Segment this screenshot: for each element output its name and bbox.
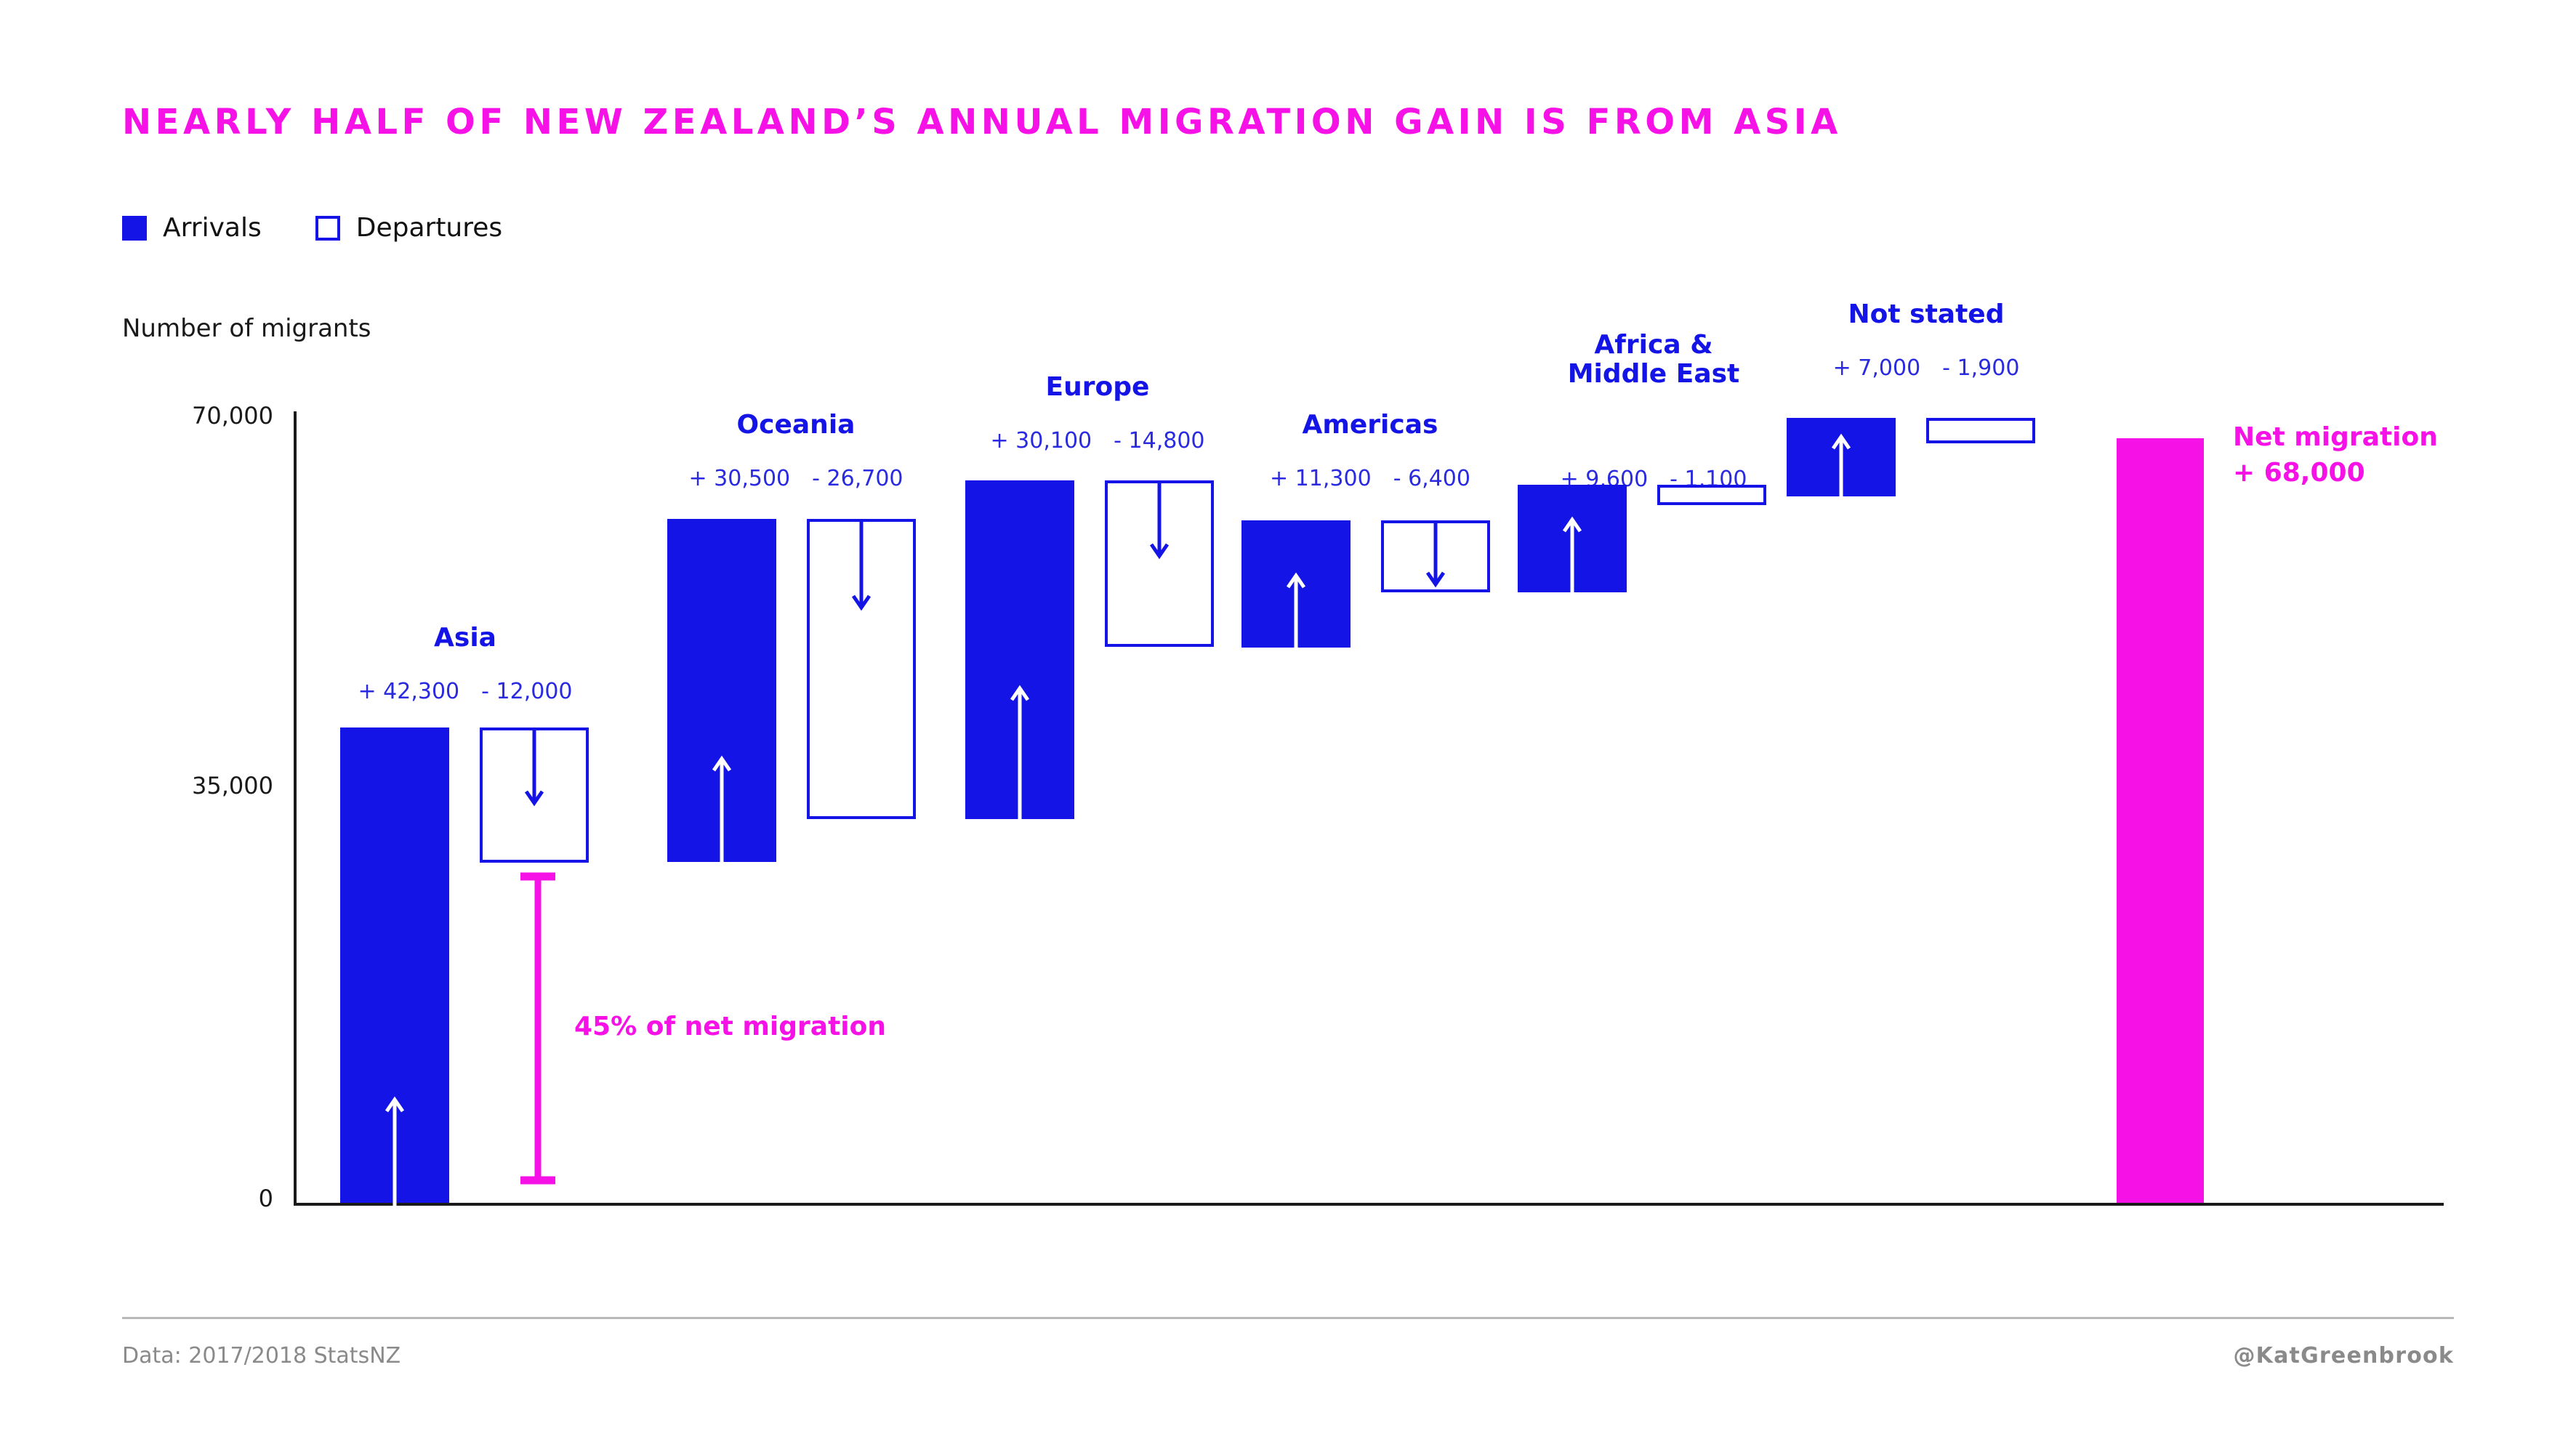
net-migration-title: Net migration <box>2233 422 2438 452</box>
group-label-not-stated: Not stated <box>1781 300 2072 329</box>
chart-title: NEARLY HALF OF NEW ZEALAND’S ANNUAL MIGR… <box>122 102 1842 142</box>
group-africa-middle-east: Africa & Middle East + 9,600 - 1,100 <box>1512 0 1795 1455</box>
y-tick-label-70000: 70,000 <box>109 402 273 430</box>
departures-value-africa-middle-east: - 1,100 <box>1670 467 1747 492</box>
legend-item-arrivals[interactable]: Arrivals <box>122 213 262 243</box>
arrivals-value-not-stated: + 7,000 <box>1833 355 1921 381</box>
departures-down-arrow-icon <box>1149 482 1170 563</box>
departures-box-europe[interactable] <box>1105 480 1214 647</box>
arrivals-bar-not-stated[interactable] <box>1787 418 1896 496</box>
group-label-americas: Americas <box>1236 411 1505 440</box>
arrivals-bar-oceania[interactable] <box>667 519 776 862</box>
x-axis-baseline <box>294 1203 2444 1206</box>
arrivals-up-arrow-icon <box>712 753 732 866</box>
group-values-not-stated: + 7,000 - 1,900 <box>1781 355 2072 381</box>
group-oceania: Oceania + 30,500 - 26,700 <box>661 0 930 1455</box>
arrivals-value-oceania: + 30,500 <box>689 466 791 491</box>
y-axis-line <box>294 411 297 1206</box>
percent-bracket-icon <box>509 872 589 1185</box>
group-label-asia: Asia <box>334 624 596 653</box>
legend-item-departures[interactable]: Departures <box>315 213 502 243</box>
footer-source-text: Data: 2017/2018 StatsNZ <box>122 1343 401 1369</box>
arrivals-up-arrow-icon <box>1010 682 1030 821</box>
group-americas: Americas + 11,300 - 6,400 <box>1236 0 1505 1455</box>
legend-label-arrivals: Arrivals <box>163 213 262 243</box>
departures-value-oceania: - 26,700 <box>812 466 903 491</box>
departures-down-arrow-icon <box>851 520 872 615</box>
departures-value-not-stated: - 1,900 <box>1942 355 2019 381</box>
group-values-oceania: + 30,500 - 26,700 <box>661 466 930 491</box>
departures-box-americas[interactable] <box>1381 520 1490 592</box>
arrivals-up-arrow-icon <box>1831 431 1851 507</box>
arrivals-value-asia: + 42,300 <box>358 679 460 704</box>
group-label-europe: Europe <box>959 373 1236 402</box>
arrivals-value-europe: + 30,100 <box>991 428 1092 454</box>
group-not-stated: Not stated + 7,000 - 1,900 <box>1781 0 2072 1455</box>
arrivals-bar-europe[interactable] <box>965 480 1074 819</box>
percent-callout-label: 45% of net migration <box>574 1012 886 1041</box>
arrivals-bar-asia[interactable] <box>340 727 449 1203</box>
group-europe: Europe + 30,100 - 14,800 <box>959 0 1236 1455</box>
group-label-line2: Middle East <box>1568 359 1740 389</box>
departures-box-not-stated[interactable] <box>1926 418 2035 443</box>
departures-down-arrow-icon <box>524 729 544 809</box>
departures-box-oceania[interactable] <box>807 519 916 819</box>
group-values-africa-middle-east: + 9,600 - 1,100 <box>1512 467 1795 492</box>
group-label-africa-middle-east: Africa & Middle East <box>1512 331 1795 390</box>
footer-divider <box>122 1317 2454 1319</box>
departures-value-asia: - 12,000 <box>481 679 572 704</box>
departures-value-americas: - 6,400 <box>1393 466 1470 491</box>
departures-box-africa-middle-east[interactable] <box>1657 485 1766 505</box>
arrivals-up-arrow-icon <box>1286 570 1306 658</box>
net-migration-bar[interactable] <box>2117 438 2204 1203</box>
arrivals-bar-americas[interactable] <box>1241 520 1351 648</box>
departures-value-europe: - 14,800 <box>1114 428 1204 454</box>
group-values-asia: + 42,300 - 12,000 <box>334 679 596 704</box>
arrivals-value-americas: + 11,300 <box>1270 466 1372 491</box>
chart-canvas: NEARLY HALF OF NEW ZEALAND’S ANNUAL MIGR… <box>0 0 2576 1455</box>
arrivals-swatch-icon <box>122 216 147 241</box>
net-migration-annotation: Net migration + 68,000 <box>2233 420 2438 491</box>
y-axis-title: Number of migrants <box>122 314 371 343</box>
departures-down-arrow-icon <box>1425 522 1446 592</box>
footer-credit-handle: @KatGreenbrook <box>2233 1343 2454 1369</box>
y-tick-label-35000: 35,000 <box>109 772 273 799</box>
group-values-europe: + 30,100 - 14,800 <box>959 428 1236 454</box>
group-values-americas: + 11,300 - 6,400 <box>1236 466 1505 491</box>
arrivals-bar-africa-middle-east[interactable] <box>1518 485 1627 592</box>
y-tick-label-0: 0 <box>109 1185 273 1212</box>
group-label-oceania: Oceania <box>661 411 930 440</box>
chart-legend: Arrivals Departures <box>122 213 502 243</box>
departures-swatch-icon <box>315 216 340 241</box>
legend-label-departures: Departures <box>356 213 502 243</box>
net-migration-value: + 68,000 <box>2233 458 2365 488</box>
arrivals-value-africa-middle-east: + 9,600 <box>1561 467 1649 492</box>
arrivals-up-arrow-icon <box>1562 514 1582 602</box>
departures-box-asia[interactable] <box>480 727 589 863</box>
arrivals-up-arrow-icon <box>385 1094 405 1206</box>
group-label-line1: Africa & <box>1594 330 1712 360</box>
